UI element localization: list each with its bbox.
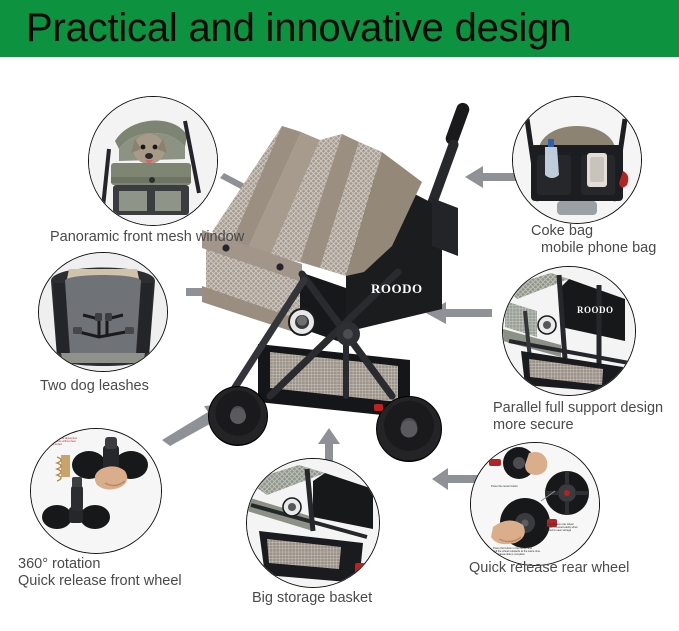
front-wheel-note: Superior shock absorption performance wi… — [47, 437, 117, 446]
brand-logo-inset: ROODO — [577, 305, 614, 315]
brand-emblem-icon — [288, 308, 316, 336]
page-title: Practical and innovative design — [26, 1, 571, 56]
inset-parallel-support: ROODO — [502, 266, 636, 396]
brand-logo: ROODO — [371, 281, 423, 297]
infographic-canvas: Practical and innovative design — [0, 0, 679, 631]
front-wheel-photo — [31, 429, 161, 553]
inset-panoramic-window — [88, 96, 218, 226]
header-banner: Practical and innovative design — [0, 0, 679, 57]
rear-wheel-note-right: Quick release rear wheel can be removed … — [545, 523, 595, 532]
label-storage-basket: Big storage basket — [252, 590, 372, 607]
label-panoramic-window: Panoramic front mesh window — [50, 229, 244, 246]
frame-closeup-photo — [503, 267, 635, 395]
rear-wheel-note-top: Press the center button — [491, 485, 547, 488]
inset-front-wheel: Superior shock absorption performance wi… — [30, 428, 162, 554]
label-coke-bag: Coke bagmobile phone bag — [531, 223, 656, 257]
label-two-dog-leashes: Two dog leashes — [40, 378, 149, 395]
stroller-interior-photo — [39, 253, 167, 371]
front-wheel — [208, 386, 268, 446]
basket-closeup-photo — [247, 459, 379, 587]
rear-wheel-release-accent — [374, 404, 383, 411]
label-parallel-support: Parallel full support designmore secure — [493, 400, 663, 434]
label-rear-wheel: Quick release rear wheel — [469, 560, 629, 577]
rear-wheel-note-bottom: Press the button in the center and pull … — [493, 547, 565, 556]
inset-rear-wheel: Press the center button Quick release re… — [470, 442, 600, 566]
inset-storage-basket — [246, 458, 380, 588]
dog-in-stroller-photo — [89, 97, 217, 225]
storage-bag-photo — [513, 97, 641, 223]
rear-wheel — [376, 396, 442, 462]
inset-coke-bag — [512, 96, 642, 224]
label-front-wheel: 360° rotationQuick release front wheel — [18, 556, 182, 590]
inset-two-dog-leashes — [38, 252, 168, 372]
product-image-stroller: ROODO ROODO — [196, 96, 496, 456]
